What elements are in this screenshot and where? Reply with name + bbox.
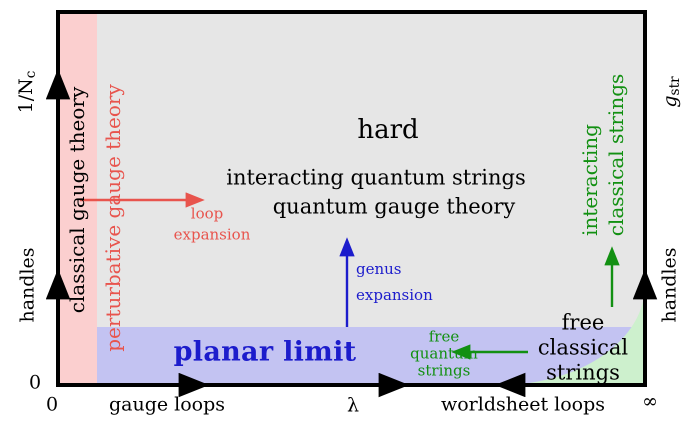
label-classical-gauge-theory: classical gauge theory bbox=[67, 87, 87, 314]
label-free-classical-strings-line1: free bbox=[562, 313, 605, 334]
label-free-quantum-strings-line3: strings bbox=[418, 364, 471, 379]
label-free-quantum-strings-line2: quantum bbox=[410, 347, 478, 362]
label-free-classical-strings-line2: classical bbox=[538, 338, 628, 359]
y-axis-top-label-text: 1/N bbox=[15, 78, 37, 113]
y-axis-right-mid-label: handles bbox=[661, 247, 680, 322]
label-planar-limit: planar limit bbox=[174, 339, 357, 366]
label-quantum-gauge-theory: quantum gauge theory bbox=[273, 197, 516, 218]
x-axis-left-label: gauge loops bbox=[109, 396, 225, 415]
y-axis-origin-label: 0 bbox=[29, 374, 41, 393]
label-genus-expansion-line2: expansion bbox=[356, 288, 433, 303]
label-perturbative-gauge-theory: perturbative gauge theory bbox=[103, 84, 123, 352]
y-axis-top-label-sub: c bbox=[23, 71, 39, 79]
label-free-quantum-strings-line1: free bbox=[429, 330, 459, 345]
label-free-classical-strings-line3: strings bbox=[546, 363, 620, 384]
y-axis-right-top-label-sub: str bbox=[667, 76, 683, 95]
y-axis-mid-label: handles bbox=[19, 247, 38, 322]
label-hard: hard bbox=[357, 117, 418, 143]
label-classical-strings-rotated: classical strings bbox=[606, 74, 626, 237]
label-loop-expansion-line2: expansion bbox=[174, 228, 251, 243]
label-interacting-quantum-strings: interacting quantum strings bbox=[226, 168, 526, 189]
label-genus-expansion-line1: genus bbox=[356, 262, 402, 277]
x-axis-right-label: worldsheet loops bbox=[441, 396, 605, 415]
label-interacting-rotated: interacting bbox=[580, 124, 600, 236]
y-axis-right-top-label-text: g bbox=[659, 95, 681, 107]
x-axis-origin-label: 0 bbox=[46, 396, 58, 415]
x-axis-center-symbol: λ bbox=[347, 397, 359, 416]
y-axis-top-label: 1/Nc bbox=[17, 71, 39, 114]
y-axis-right-top-label: gstr bbox=[661, 76, 683, 107]
x-axis-infinity-label: ∞ bbox=[642, 393, 658, 412]
label-loop-expansion-line1: loop bbox=[191, 207, 223, 222]
diagram-canvas: hard interacting quantum strings quantum… bbox=[0, 0, 685, 423]
